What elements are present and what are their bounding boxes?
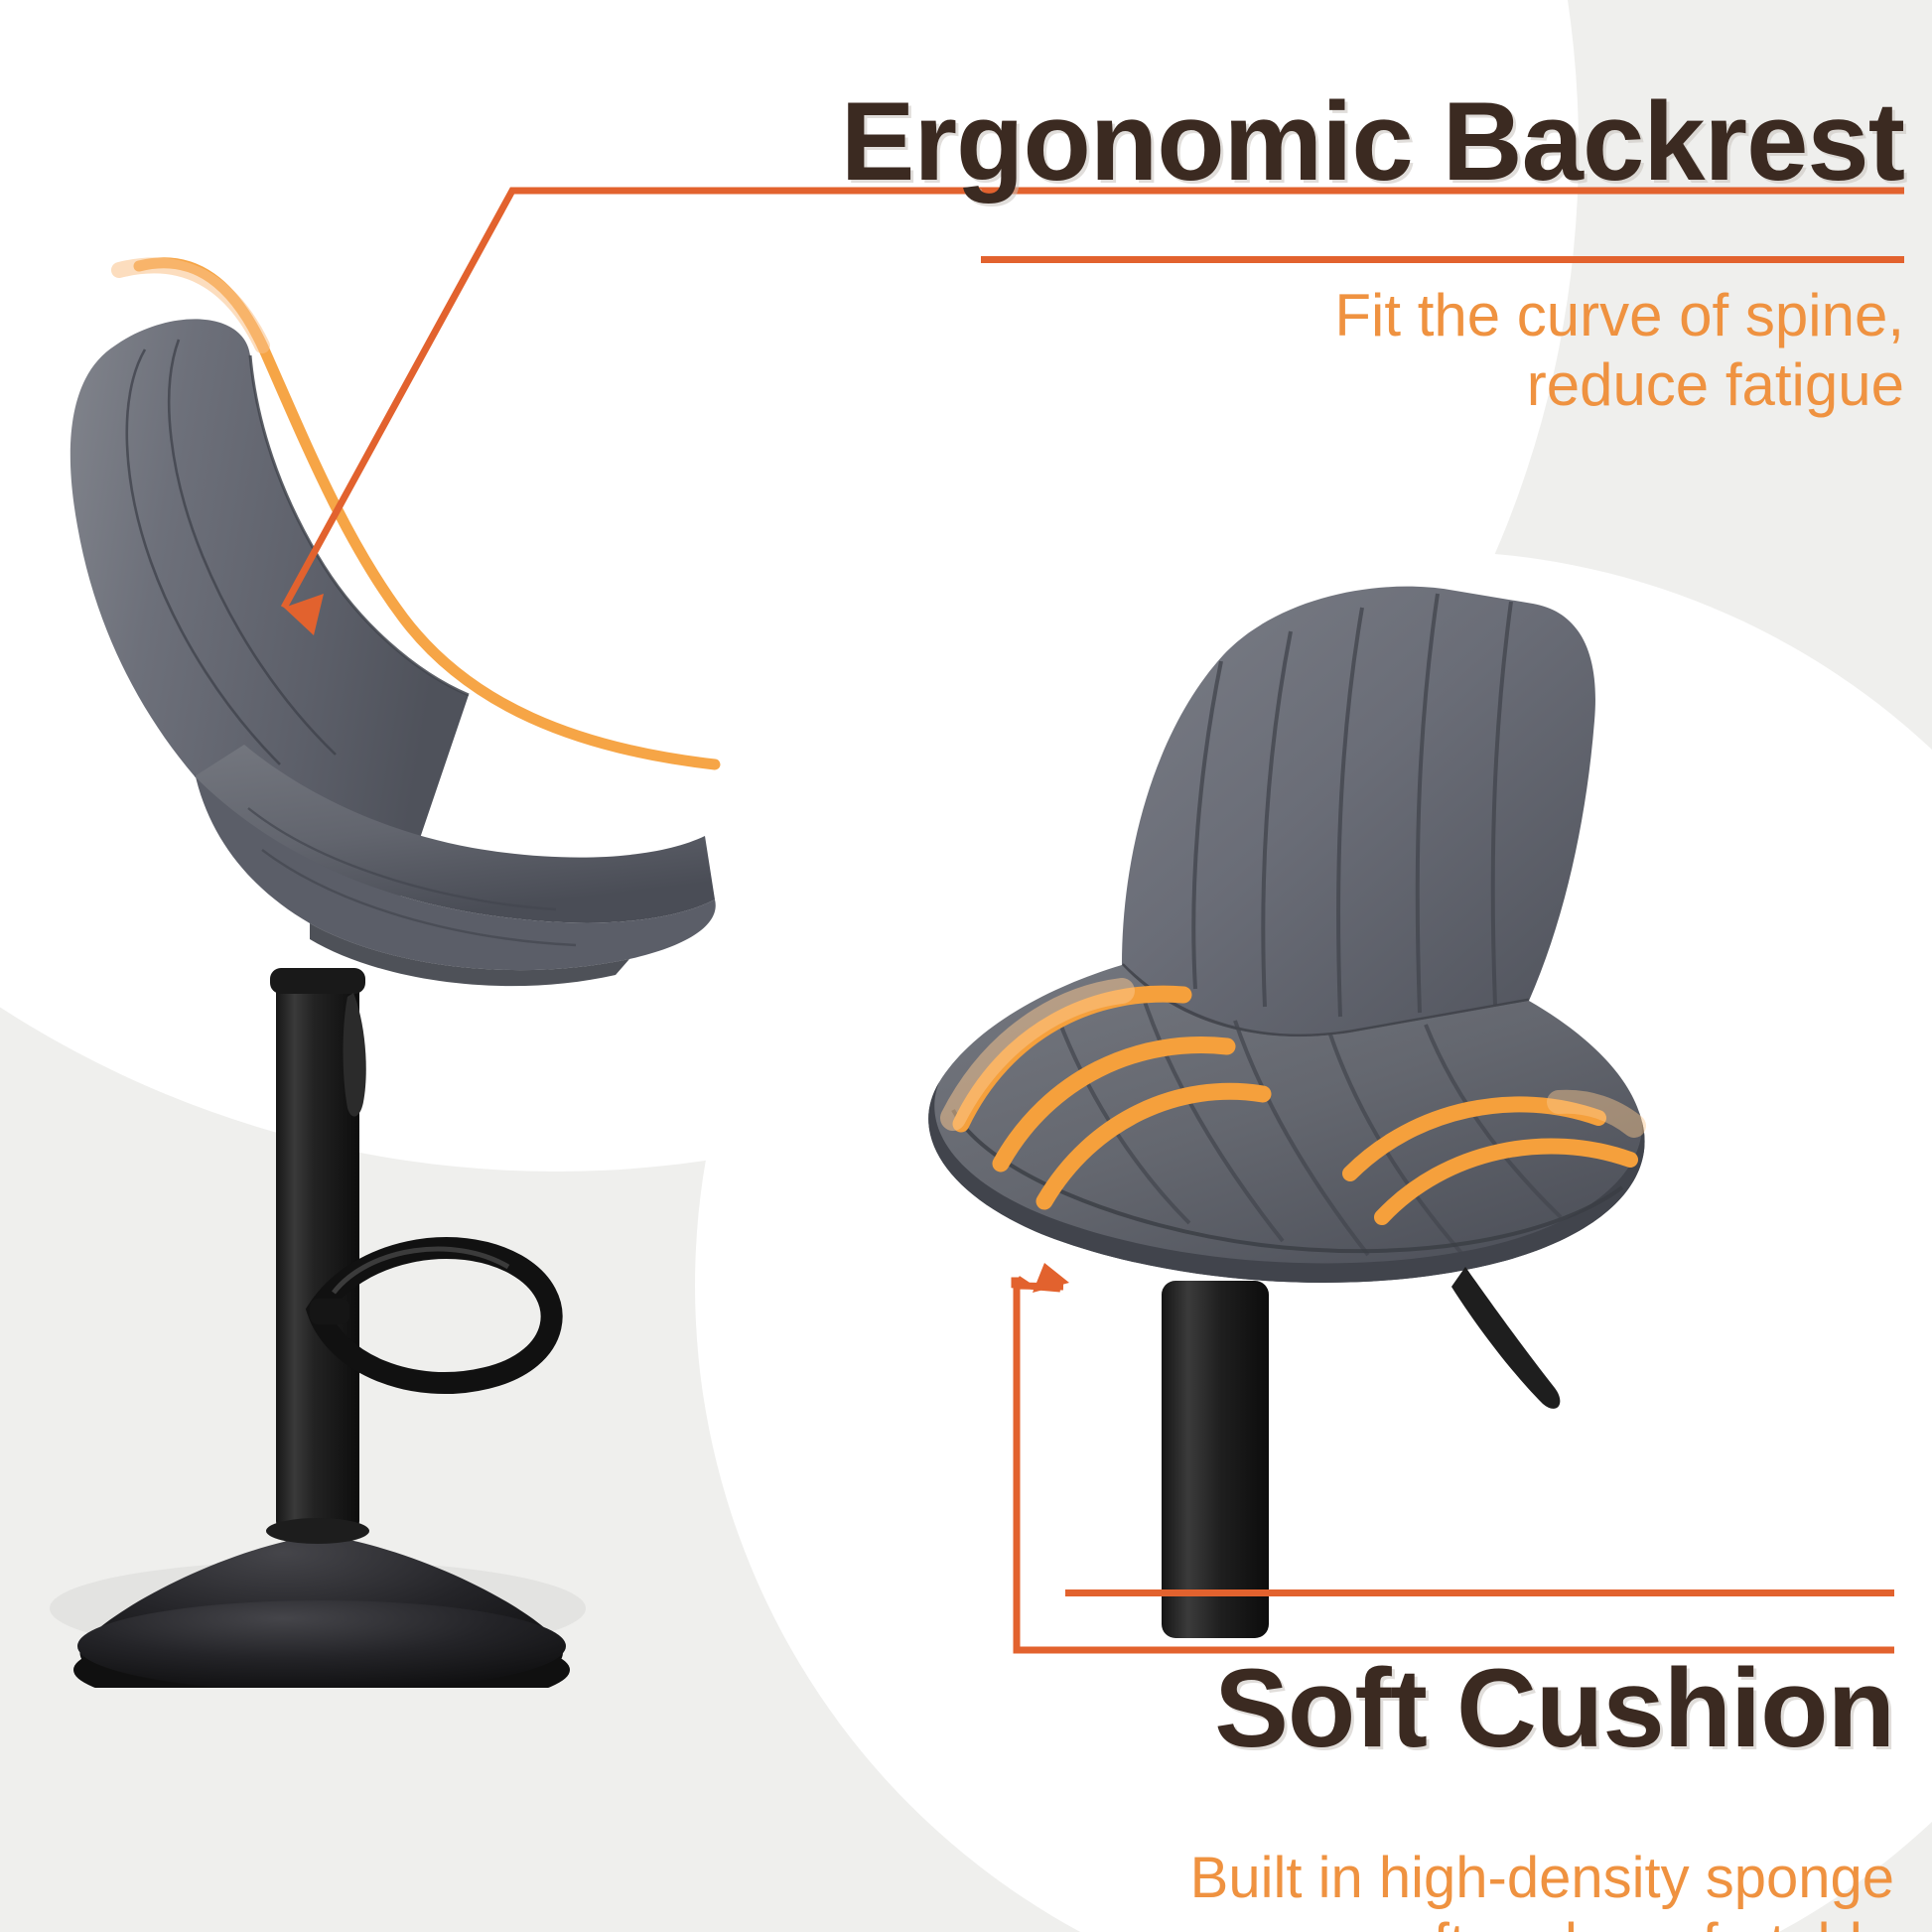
feature-divider-bottom (1065, 1589, 1894, 1596)
feature-subtitle-line-2: reduce fatigue (1334, 350, 1904, 420)
feature-subtitle-line-1: Built in high-density sponge (1190, 1845, 1894, 1911)
footrest-bracket (310, 1299, 349, 1324)
gas-lift-column (1162, 1281, 1269, 1638)
feature-title-ergonomic-backrest: Ergonomic Backrest (841, 77, 1904, 206)
adjustment-lever (1451, 1267, 1560, 1409)
feature-subtitle-line-1: Fit the curve of spine, (1334, 281, 1904, 350)
pedestal-base-top (77, 1600, 566, 1688)
product-barstool-side-view (20, 228, 794, 1688)
infographic-canvas: Ergonomic Backrest Fit the curve of spin… (0, 0, 1932, 1932)
adjustment-lever (344, 993, 366, 1117)
feature-subtitle-line-2: soft and comfortable (1190, 1911, 1894, 1932)
pedestal-collar (266, 1518, 369, 1544)
column-collar (270, 968, 365, 994)
product-barstool-seat-closeup (794, 516, 1916, 1638)
feature-subtitle-ergonomic-backrest: Fit the curve of spine, reduce fatigue (1334, 281, 1904, 419)
feature-title-soft-cushion: Soft Cushion (1214, 1644, 1894, 1772)
feature-divider-top (981, 256, 1904, 263)
feature-subtitle-soft-cushion: Built in high-density sponge soft and co… (1190, 1845, 1894, 1932)
